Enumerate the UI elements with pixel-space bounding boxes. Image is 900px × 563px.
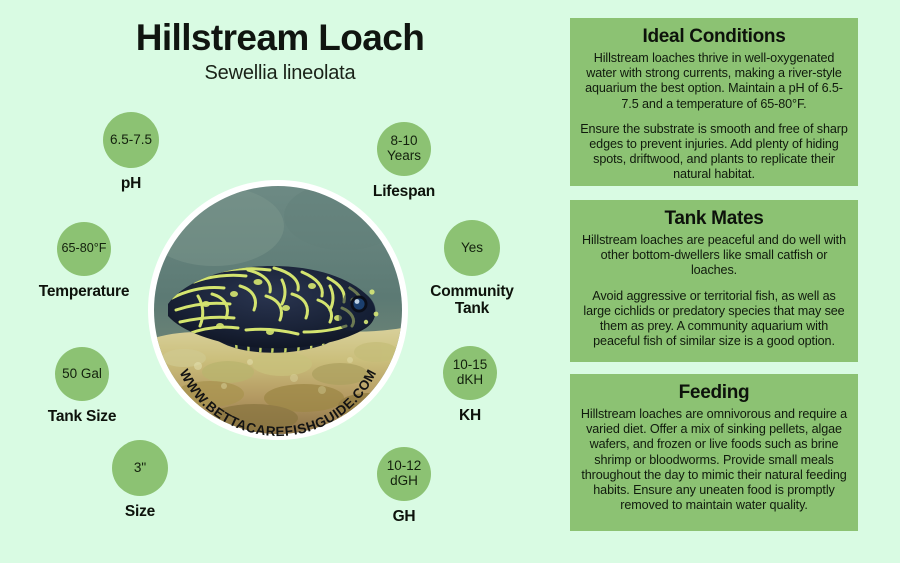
badge-lifespan-value: 8-10 Years	[377, 122, 431, 176]
badge-gh: 10-12 dGH GH	[358, 447, 450, 525]
badge-community-tank-label: Community Tank	[415, 283, 529, 318]
badge-ph-value: 6.5-7.5	[103, 112, 159, 168]
panel-feeding-title: Feeding	[580, 382, 848, 404]
badge-gh-value: 10-12 dGH	[377, 447, 431, 501]
badge-lifespan: 8-10 Years Lifespan	[358, 122, 450, 200]
badge-kh-value: 10-15 dKH	[443, 346, 497, 400]
fish-photo-circle: WWW.BETTACAREFISHGUIDE.COM	[148, 180, 408, 440]
left-column: Hillstream Loach Sewellia lineolata	[0, 0, 560, 563]
badge-tank-size-label: Tank Size	[28, 408, 136, 425]
page-subtitle: Sewellia lineolata	[0, 62, 560, 85]
badge-temperature-label: Temperature	[27, 283, 141, 300]
badge-size-label: Size	[86, 503, 194, 520]
badge-temperature: 65-80°F Temperature	[27, 222, 141, 300]
right-column: Ideal Conditions Hillstream loaches thri…	[570, 0, 860, 563]
badge-temperature-value: 65-80°F	[57, 222, 111, 276]
panel-ideal-conditions-paragraph-2: Ensure the substrate is smooth and free …	[580, 122, 848, 183]
badge-community-tank-value: Yes	[444, 220, 500, 276]
panel-feeding-paragraph-1: Hillstream loaches are omnivorous and re…	[580, 407, 848, 514]
hillstream-loach-photo	[154, 186, 402, 434]
badge-tank-size: 50 Gal Tank Size	[28, 347, 136, 425]
panel-ideal-conditions-paragraph-1: Hillstream loaches thrive in well-oxygen…	[580, 51, 848, 112]
page-title: Hillstream Loach	[0, 18, 560, 59]
badge-size-value: 3"	[112, 440, 168, 496]
panel-feeding: Feeding Hillstream loaches are omnivorou…	[570, 374, 858, 531]
badge-gh-label: GH	[358, 508, 450, 525]
badge-community-tank: Yes Community Tank	[415, 220, 529, 318]
badge-kh-label: KH	[424, 407, 516, 424]
panel-ideal-conditions-title: Ideal Conditions	[580, 26, 848, 48]
badge-size: 3" Size	[86, 440, 194, 520]
badge-kh: 10-15 dKH KH	[424, 346, 516, 424]
panel-tank-mates-paragraph-1: Hillstream loaches are peaceful and do w…	[580, 233, 848, 279]
panel-tank-mates: Tank Mates Hillstream loaches are peacef…	[570, 200, 858, 362]
panel-tank-mates-title: Tank Mates	[580, 208, 848, 230]
panel-ideal-conditions: Ideal Conditions Hillstream loaches thri…	[570, 18, 858, 186]
badge-tank-size-value: 50 Gal	[55, 347, 109, 401]
badge-ph-label: pH	[85, 175, 177, 192]
panel-tank-mates-paragraph-2: Avoid aggressive or territorial fish, as…	[580, 289, 848, 350]
badge-lifespan-label: Lifespan	[358, 183, 450, 200]
badge-ph: 6.5-7.5 pH	[85, 112, 177, 192]
